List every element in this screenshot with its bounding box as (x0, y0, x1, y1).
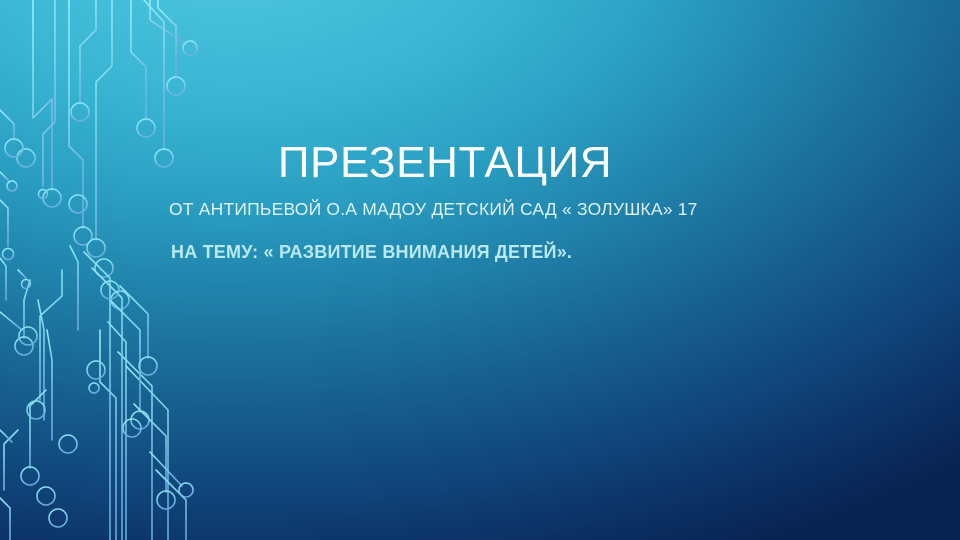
circuit-board-pattern (0, 0, 960, 540)
text-block: Презентация От Антипьевой О.А МАДОУ Детс… (165, 140, 725, 263)
title-slide: Презентация От Антипьевой О.А МАДОУ Детс… (0, 0, 960, 540)
topic-line: На тему: « Развитие внимания детей». (171, 242, 725, 263)
page-title: Презентация (165, 140, 725, 187)
author-line: От Антипьевой О.А МАДОУ Детский сад « Зо… (169, 199, 725, 220)
